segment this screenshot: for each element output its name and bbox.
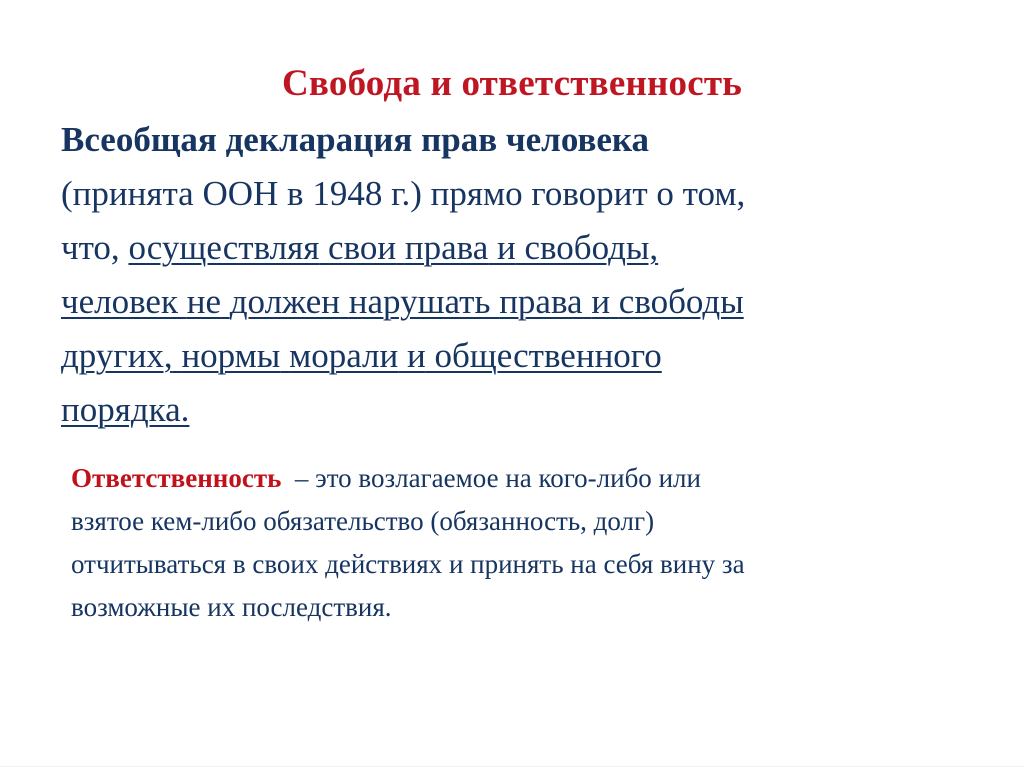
responsibility-definition-paragraph: Ответственность – это возлагаемое на ког… bbox=[71, 457, 959, 629]
word-gap bbox=[412, 113, 421, 167]
declaration-line-3-underlined: осуществляя bbox=[128, 228, 319, 267]
slide-canvas: Свобода и ответственность Всеобщая декла… bbox=[0, 0, 1024, 767]
word-gap bbox=[653, 543, 660, 586]
word-gap bbox=[304, 167, 313, 221]
declaration-line-5-underlined: других, bbox=[61, 336, 173, 375]
word-gap bbox=[674, 167, 683, 221]
declaration-line-4-underlined: права bbox=[499, 282, 582, 321]
declaration-line-2-text: ООН bbox=[202, 174, 278, 213]
word-gap bbox=[587, 500, 594, 543]
declaration-line-5-underlined: общественного bbox=[434, 336, 661, 375]
declaration-line-3-underlined: свои bbox=[328, 228, 396, 267]
responsibility-line-3-text: принять bbox=[470, 549, 563, 579]
declaration-line-3-underlined: свободы, bbox=[524, 228, 658, 267]
responsibility-line-2: взятое кем-либо обязательство (обязаннос… bbox=[71, 500, 959, 543]
responsibility-line-3: отчитываться в своих действиях и принять… bbox=[71, 543, 959, 586]
word-gap bbox=[532, 457, 539, 500]
word-gap bbox=[178, 275, 187, 329]
responsibility-line-1-rest: это bbox=[315, 463, 352, 493]
word-gap bbox=[652, 457, 659, 500]
word-gap bbox=[398, 329, 407, 383]
declaration-line-3: что, осуществляя свои права и свободы, bbox=[61, 221, 967, 275]
responsibility-line-3-text: своих bbox=[252, 549, 318, 579]
responsibility-line-1-rest: или bbox=[659, 463, 701, 493]
declaration-line-2-text: (принята bbox=[61, 174, 194, 213]
responsibility-line-3-text: вину bbox=[660, 549, 715, 579]
word-gap bbox=[340, 275, 349, 329]
word-gap bbox=[497, 113, 506, 167]
responsibility-line-3-text: на bbox=[570, 549, 596, 579]
declaration-lead-text: прав bbox=[421, 120, 497, 159]
responsibility-line-3-text: себя bbox=[603, 549, 653, 579]
declaration-line-2-text: в bbox=[287, 174, 304, 213]
declaration-line-5-underlined: морали bbox=[289, 336, 398, 375]
declaration-line-2-text: том, bbox=[683, 174, 746, 213]
page-title: Свобода и ответственность bbox=[0, 61, 1024, 107]
word-gap bbox=[280, 329, 289, 383]
responsibility-line-1-rest: возлагаемое bbox=[358, 463, 498, 493]
responsibility-line-2-text: долг) bbox=[594, 506, 654, 536]
word-gap bbox=[488, 221, 497, 275]
responsibility-line-2-text: взятое bbox=[71, 506, 144, 536]
word-gap bbox=[442, 543, 449, 586]
word-gap bbox=[382, 167, 391, 221]
responsibility-line-3-text: в bbox=[233, 549, 246, 579]
declaration-line-3-underlined: права bbox=[405, 228, 488, 267]
declaration-line-6-underlined: порядка. bbox=[61, 390, 189, 429]
declaration-lead-text: человека bbox=[506, 120, 649, 159]
declaration-line-4-underlined: и bbox=[591, 282, 610, 321]
declaration-line-1: Всеобщая декларация прав человека bbox=[61, 113, 967, 167]
declaration-lead-text: декларация bbox=[226, 120, 413, 159]
declaration-line-2-text: говорит bbox=[531, 174, 647, 213]
declaration-paragraph: Всеобщая декларация прав человека (приня… bbox=[61, 113, 967, 437]
declaration-line-3-underlined: и bbox=[497, 228, 516, 267]
declaration-line-2-text: прямо bbox=[431, 174, 523, 213]
responsibility-line-1: Ответственность – это возлагаемое на ког… bbox=[71, 457, 959, 500]
word-gap bbox=[281, 457, 288, 500]
responsibility-line-3-text: и bbox=[449, 549, 463, 579]
responsibility-line-4: возможные их последствия. bbox=[71, 586, 959, 629]
declaration-line-2-text: г.) bbox=[391, 174, 422, 213]
declaration-line-5-underlined: нормы bbox=[181, 336, 280, 375]
responsibility-line-1-rest: – bbox=[295, 463, 309, 493]
word-gap bbox=[319, 221, 328, 275]
declaration-line-2: (принята ООН в 1948 г.) прямо говорит о … bbox=[61, 167, 967, 221]
declaration-line-6: порядка. bbox=[61, 383, 967, 437]
declaration-line-5: других, нормы морали и общественного bbox=[61, 329, 967, 383]
declaration-line-3-plain: что, bbox=[61, 228, 120, 267]
declaration-line-4-underlined: человек bbox=[61, 282, 178, 321]
declaration-line-4: человек не должен нарушать права и свобо… bbox=[61, 275, 967, 329]
word-gap bbox=[583, 275, 592, 329]
responsibility-line-3-text: за bbox=[722, 549, 745, 579]
word-gap bbox=[144, 500, 151, 543]
responsibility-line-4-text: возможные их последствия. bbox=[71, 592, 392, 622]
declaration-line-4-underlined: свободы bbox=[619, 282, 744, 321]
declaration-line-4-underlined: нарушать bbox=[349, 282, 491, 321]
responsibility-term: Ответственность bbox=[71, 463, 281, 493]
responsibility-line-3-text: отчитываться bbox=[71, 549, 226, 579]
word-gap bbox=[396, 221, 405, 275]
responsibility-line-2-text: кем-либо bbox=[151, 506, 257, 536]
word-gap bbox=[221, 275, 230, 329]
declaration-lead-text: Всеобщая bbox=[61, 120, 217, 159]
responsibility-line-2-text: (обязанность, bbox=[430, 506, 587, 536]
word-gap bbox=[610, 275, 619, 329]
declaration-line-4-underlined: должен bbox=[230, 282, 340, 321]
declaration-line-5-underlined: и bbox=[407, 336, 426, 375]
word-gap bbox=[715, 543, 722, 586]
declaration-line-4-underlined: не bbox=[187, 282, 221, 321]
word-gap bbox=[226, 543, 233, 586]
responsibility-line-2-text: обязательство bbox=[263, 506, 423, 536]
word-gap bbox=[422, 167, 431, 221]
responsibility-line-1-rest: кого-либо bbox=[539, 463, 652, 493]
word-gap bbox=[278, 167, 287, 221]
declaration-line-2-text: о bbox=[656, 174, 674, 213]
word-gap bbox=[217, 113, 226, 167]
word-gap bbox=[288, 457, 295, 500]
word-gap bbox=[490, 275, 499, 329]
declaration-line-2-text: 1948 bbox=[312, 174, 382, 213]
responsibility-line-1-rest: на bbox=[505, 463, 531, 493]
responsibility-line-3-text: действиях bbox=[325, 549, 442, 579]
